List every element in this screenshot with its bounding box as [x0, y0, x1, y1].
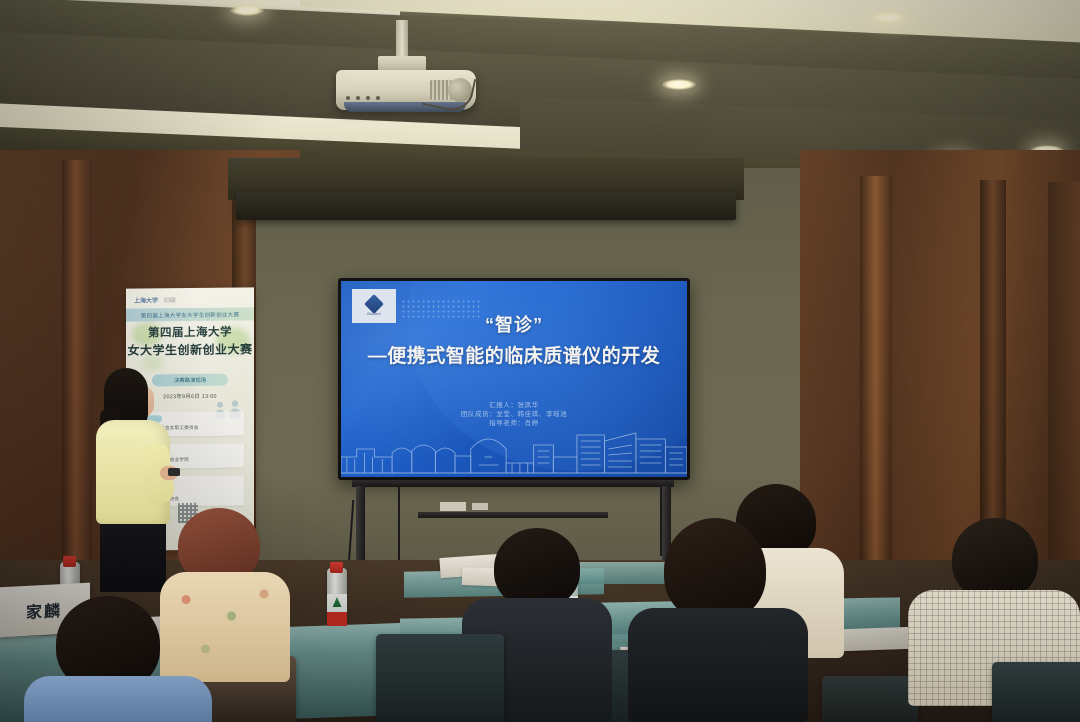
slide-credit-presenter: 汇报人：张凤华: [341, 401, 687, 410]
banner-logo-partner: 妇联: [164, 295, 176, 304]
chair: [992, 662, 1080, 722]
banner-strip: 第四届上海大学女大学生创新创业大赛: [126, 307, 254, 321]
audience-member-dark-top-head: [494, 528, 580, 608]
tv-stand-media-box: [440, 502, 466, 511]
wall-right-wood-panel: [800, 150, 1080, 620]
tv-screen: BioMed “智诊” —便携式智能的临床质谱仪的开发 汇报人：张凤华 团队成员…: [341, 281, 687, 477]
banner-heading-line2: 女大学生创新创业大赛: [126, 340, 254, 358]
audience-member-ponytail: [628, 608, 808, 722]
audience-member-floral-top: [160, 572, 290, 682]
audience-member-ponytail-head: [664, 518, 766, 622]
projection-screen-housing: [236, 192, 736, 220]
audience-member-checked-shirt-head: [952, 518, 1038, 600]
presenter-clicker: [168, 468, 180, 476]
tv-stand-top-rail: [352, 480, 674, 487]
banner-strip-text: 第四届上海大学女大学生创新创业大赛: [141, 310, 240, 319]
banner-pill-text: 决赛路演现场: [174, 376, 206, 384]
banner-heading-line1: 第四届上海大学: [126, 323, 254, 340]
wall-column-left: [62, 160, 92, 600]
banner-logo-university: 上海大学: [134, 295, 158, 304]
banner-logos: 上海大学 妇联: [134, 291, 246, 306]
slide-title-sub: —便携式智能的临床质谱仪的开发: [341, 341, 687, 368]
campus-skyline-icon: [341, 423, 687, 477]
tv-stand-crossbar: [418, 512, 608, 518]
downlight-icon: [230, 5, 264, 16]
bottle-cap: [330, 562, 343, 573]
tv-cable: [398, 486, 400, 566]
conference-room-photo: BioMed “智诊” —便携式智能的临床质谱仪的开发 汇报人：张凤华 团队成员…: [0, 0, 1080, 722]
slide-title-main: “智诊”: [341, 311, 687, 337]
downlight-icon: [872, 12, 906, 23]
paper-documents: [838, 627, 917, 652]
audience-member-blue-shirt: [24, 676, 212, 722]
chair: [376, 634, 504, 722]
bottle-label-band: [327, 612, 347, 626]
chair: [822, 676, 918, 722]
wall-column-right: [860, 176, 892, 606]
slide-credit-team: 团队成员：龙莹、韩佳琪、李瑶池: [341, 410, 687, 419]
tv-stand-media-box-2: [472, 503, 488, 510]
wall-column-right-3: [1048, 182, 1080, 602]
presenter-trousers: [100, 516, 166, 592]
wall-mounted-tv[interactable]: BioMed “智诊” —便携式智能的临床质谱仪的开发 汇报人：张凤华 团队成员…: [338, 278, 690, 480]
placard-text: 家麟: [26, 597, 62, 623]
bottle-cap: [63, 556, 76, 567]
banner-subtitle-pill: 决赛路演现场: [152, 374, 228, 387]
tv-cable-2: [660, 486, 662, 556]
downlight-icon: [662, 79, 696, 90]
slide-title-block: “智诊” —便携式智能的临床质谱仪的开发: [341, 311, 687, 368]
